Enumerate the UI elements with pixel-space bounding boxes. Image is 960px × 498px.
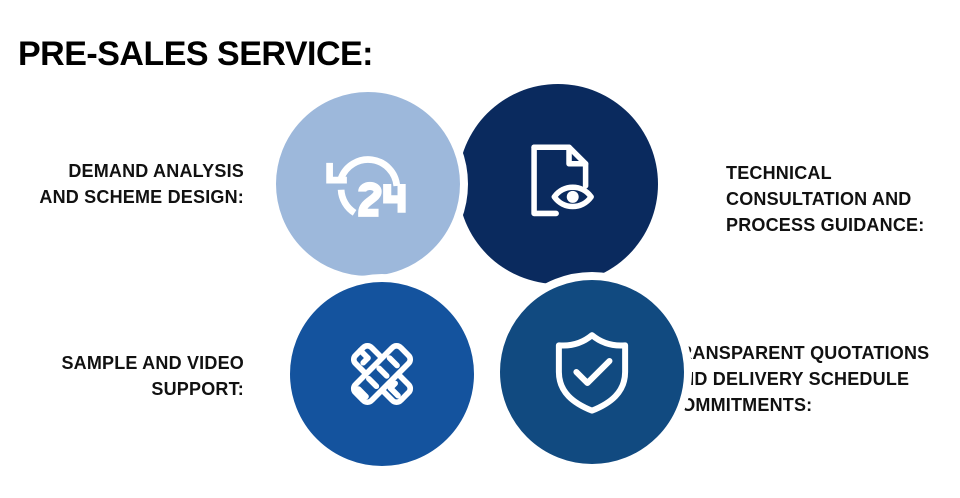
label-sample-video-support: SAMPLE AND VIDEO SUPPORT:: [0, 350, 244, 402]
page-title: PRE-SALES SERVICE:: [18, 35, 373, 74]
pencil-ruler-icon: [335, 327, 429, 421]
label-technical-consultation: TECHNICAL CONSULTATION AND PROCESS GUIDA…: [726, 160, 956, 238]
24-hours-rotate-icon: [320, 136, 416, 232]
label-demand-analysis: DEMAND ANALYSIS AND SCHEME DESIGN:: [0, 158, 244, 210]
circle-demand-analysis[interactable]: [268, 84, 468, 284]
label-transparent-quotations: TRANSPARENT QUOTATIONS AND DELIVERY SCHE…: [668, 340, 960, 418]
circle-sample-video-support[interactable]: [282, 274, 482, 474]
circle-transparent-quotations[interactable]: [492, 272, 692, 472]
document-eye-icon: [512, 138, 604, 230]
service-circle-cluster: [262, 78, 674, 490]
circle-technical-consultation[interactable]: [458, 84, 658, 284]
shield-check-icon: [546, 326, 638, 418]
